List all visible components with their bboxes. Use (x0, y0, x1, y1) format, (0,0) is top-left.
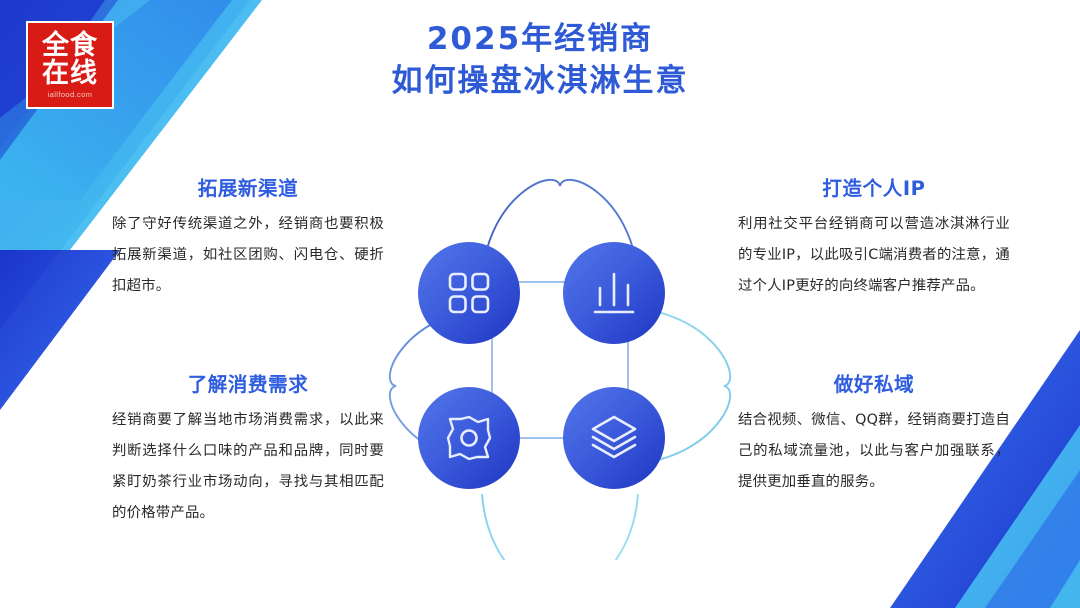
node-chart[interactable] (563, 242, 665, 344)
title-line-1: 2025年经销商 (0, 18, 1080, 60)
brand-logo: 全食 在线 iallfood.com (26, 21, 114, 109)
info-block-body: 经销商要了解当地市场消费需求，以此来判断选择什么口味的产品和品牌，同时要紧盯奶茶… (112, 405, 384, 529)
logo-text-line2: 在线 (42, 60, 98, 87)
node-gear[interactable] (418, 387, 520, 489)
four-pillar-diagram (370, 160, 750, 560)
info-block-private-domain: 做好私域 结合视频、微信、QQ群，经销商要打造自己的私域流量池，以此与客户加强联… (738, 372, 1010, 498)
info-block-body: 利用社交平台经销商可以营造冰淇淋行业的专业IP，以此吸引C端消费者的注意，通过个… (738, 209, 1010, 302)
petal-bottom (482, 494, 638, 560)
info-block-understand-consumer-demand: 了解消费需求 经销商要了解当地市场消费需求，以此来判断选择什么口味的产品和品牌，… (112, 372, 384, 529)
node-grid[interactable] (418, 242, 520, 344)
diagram-petals (390, 180, 730, 560)
info-block-body: 除了守好传统渠道之外，经销商也要积极拓展新渠道，如社区团购、闪电仓、硬折扣超市。 (112, 209, 384, 302)
info-block-build-personal-ip: 打造个人IP 利用社交平台经销商可以营造冰淇淋行业的专业IP，以此吸引C端消费者… (738, 176, 1010, 302)
info-block-heading: 打造个人IP (738, 176, 1010, 202)
node-layers[interactable] (563, 387, 665, 489)
info-block-heading: 了解消费需求 (112, 372, 384, 398)
info-block-expand-new-channels: 拓展新渠道 除了守好传统渠道之外，经销商也要积极拓展新渠道，如社区团购、闪电仓、… (112, 176, 384, 302)
info-block-body: 结合视频、微信、QQ群，经销商要打造自己的私域流量池，以此与客户加强联系，提供更… (738, 405, 1010, 498)
title-line-2: 如何操盘冰淇淋生意 (0, 60, 1080, 102)
info-block-heading: 拓展新渠道 (112, 176, 384, 202)
logo-text-line1: 全食 (42, 32, 98, 59)
page-title: 2025年经销商 如何操盘冰淇淋生意 (0, 18, 1080, 102)
info-block-heading: 做好私域 (738, 372, 1010, 398)
logo-url: iallfood.com (48, 90, 93, 99)
